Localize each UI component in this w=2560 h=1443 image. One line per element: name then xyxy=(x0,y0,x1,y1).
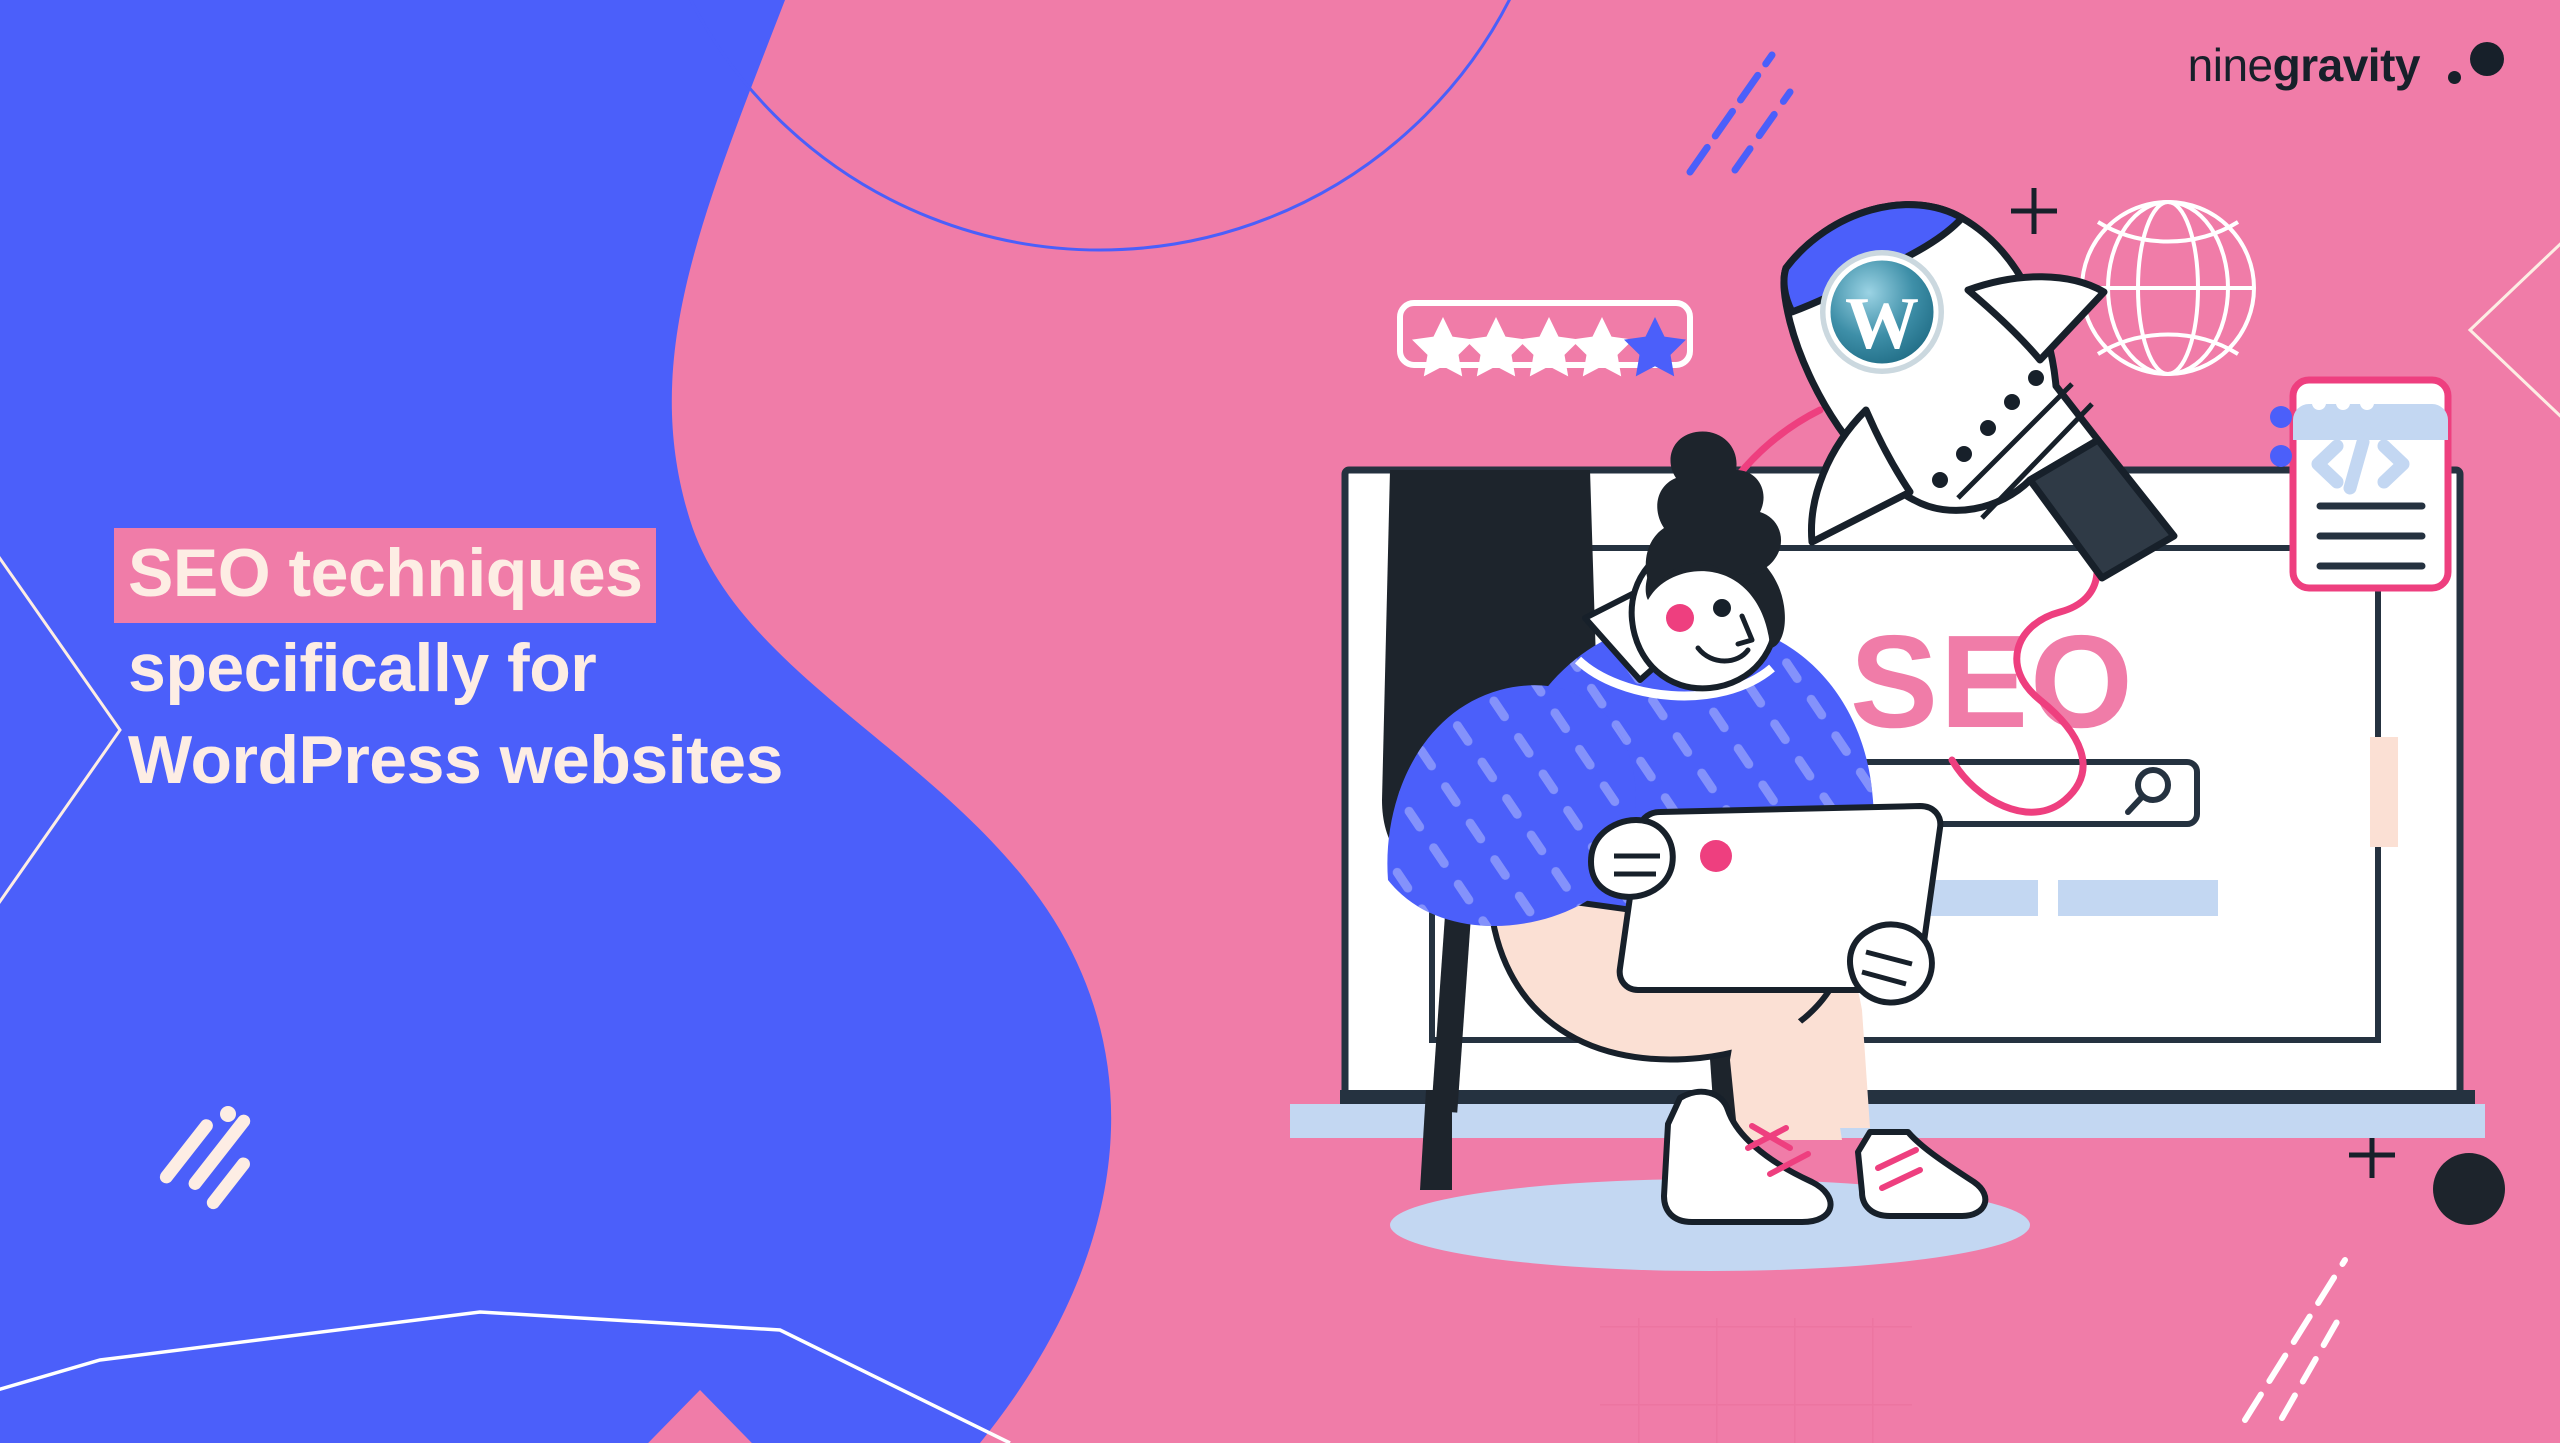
hand-left xyxy=(1591,820,1673,897)
headline-line-1: SEO techniques xyxy=(114,528,656,623)
brand-wordmark-light: nine xyxy=(2188,39,2273,91)
brand-dot-small-icon xyxy=(2448,71,2461,84)
cheek-blush xyxy=(1666,604,1694,632)
page-title: SEO techniques specifically for WordPres… xyxy=(128,528,1028,818)
titlebar-dots xyxy=(2312,396,2374,410)
eye xyxy=(1713,599,1731,617)
hand-right xyxy=(1850,924,1932,1002)
brand-logo[interactable]: ninegravity xyxy=(2188,38,2504,92)
decor-grid-patch xyxy=(1600,1318,1912,1443)
seo-heading: SEO xyxy=(1850,608,2135,755)
svg-text:W: W xyxy=(1845,283,1919,365)
brand-wordmark-bold: gravity xyxy=(2273,39,2420,91)
decor-dark-dot xyxy=(2433,1153,2505,1225)
code-snippet-window xyxy=(2270,380,2448,588)
accent-block xyxy=(2370,737,2398,847)
tablet-camera-dot xyxy=(1700,840,1732,872)
brand-wordmark: ninegravity xyxy=(2188,38,2420,92)
headline-line-2: specifically for xyxy=(128,633,1028,704)
banner-canvas: SEO xyxy=(0,0,2560,1443)
brand-dots xyxy=(2448,42,2504,88)
headline-line-3: WordPress websites xyxy=(128,725,1028,796)
wordpress-logo: W xyxy=(1820,250,1944,374)
brand-dot-large-icon xyxy=(2470,42,2504,76)
